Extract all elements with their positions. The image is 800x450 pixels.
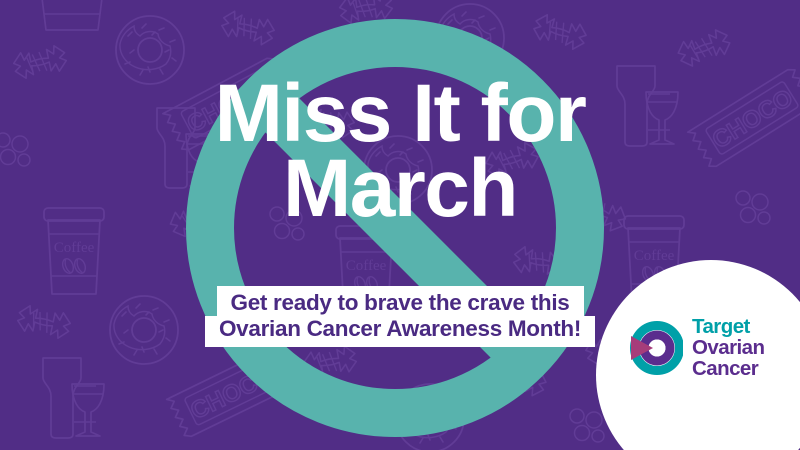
logo-lockup: Target Ovarian Cancer xyxy=(629,316,765,379)
logo-word-cancer: Cancer xyxy=(692,358,765,379)
subtitle-line-1: Get ready to brave the crave this xyxy=(217,286,584,316)
logo-wordmark: Target Ovarian Cancer xyxy=(692,316,765,379)
poster-canvas: Coffee CHOCO xyxy=(0,0,800,450)
logo-word-ovarian: Ovarian xyxy=(692,337,765,358)
logo-word-target: Target xyxy=(692,316,765,337)
page-title: Miss It for March xyxy=(0,76,800,227)
subtitle-line-2: Ovarian Cancer Awareness Month! xyxy=(205,316,595,347)
headline-line-1: Miss It for xyxy=(0,76,800,151)
headline-line-2: March xyxy=(0,151,800,226)
target-ovarian-cancer-logo-icon xyxy=(629,321,683,375)
